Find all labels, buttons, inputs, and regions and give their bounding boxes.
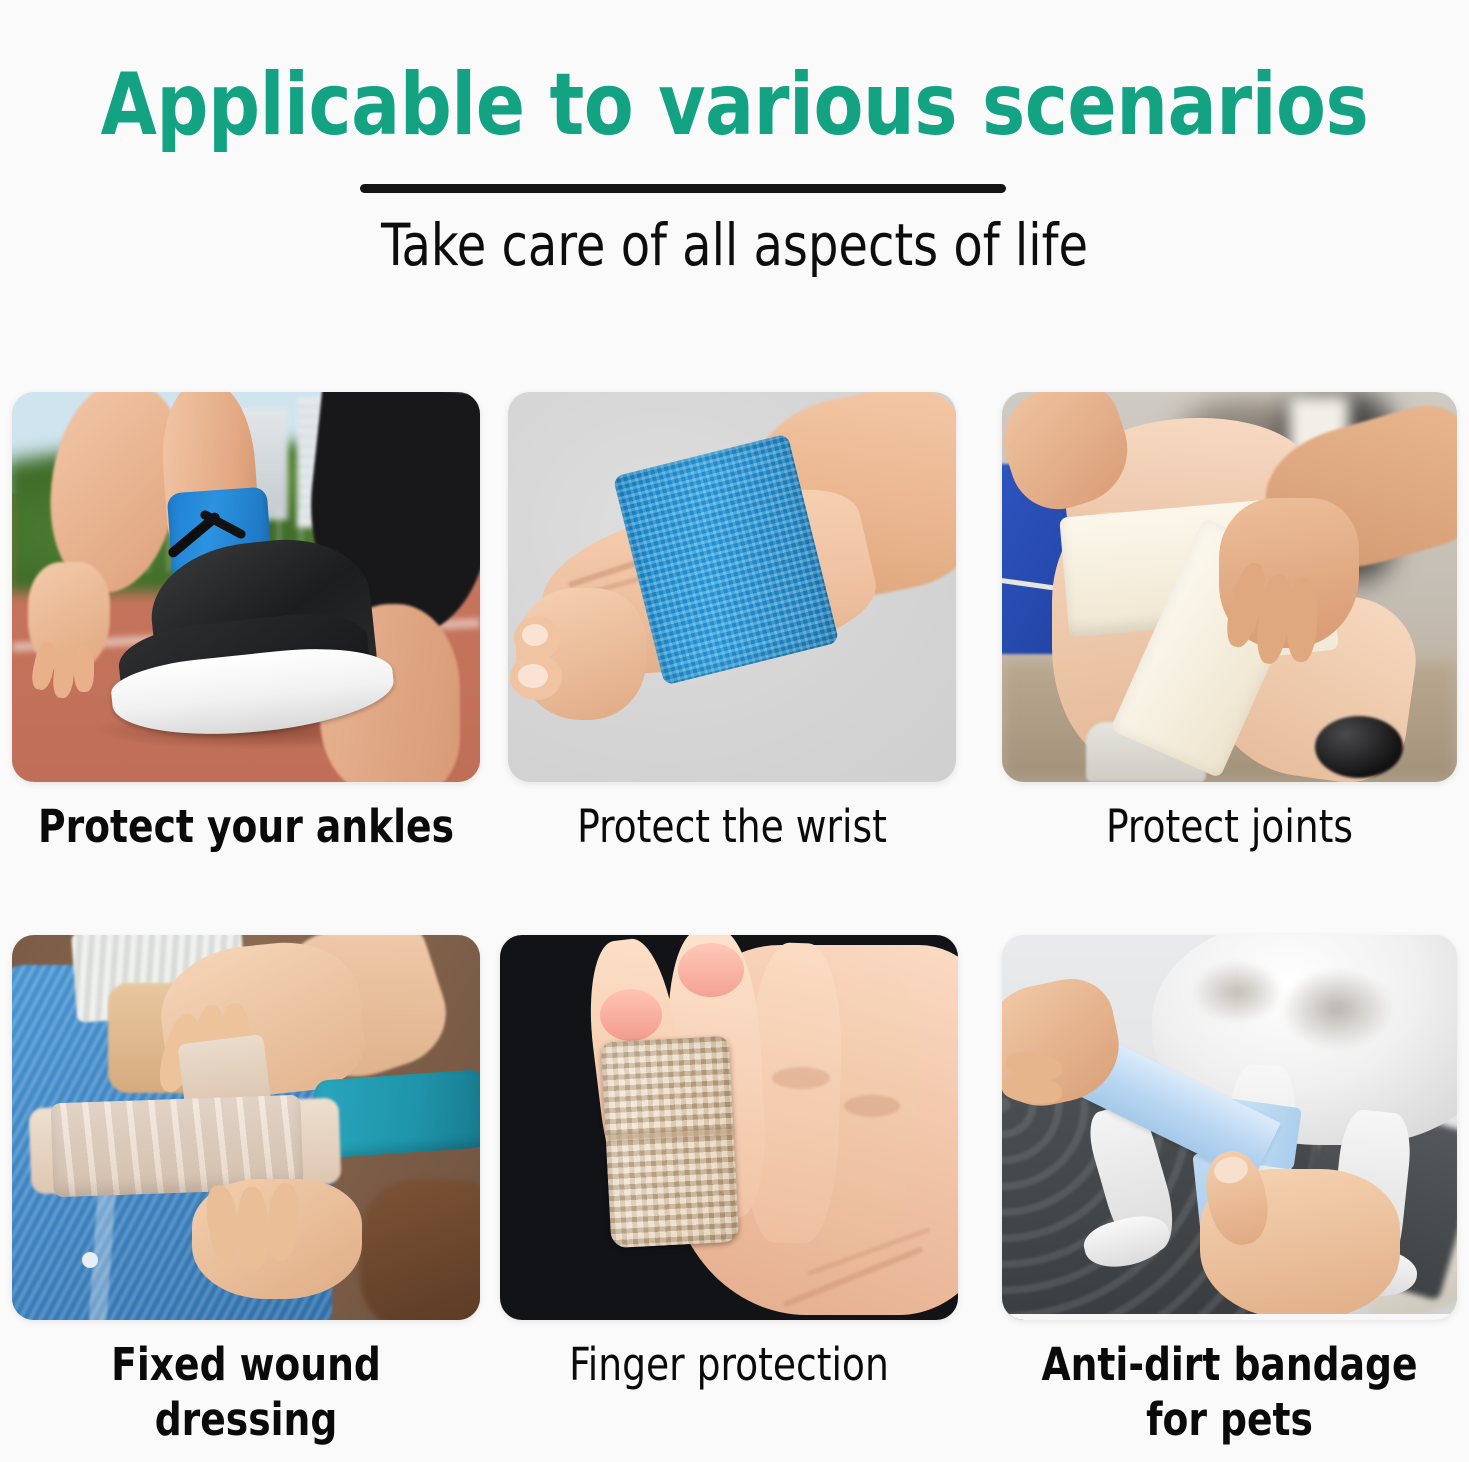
- infographic-page: Applicable to various scenarios Take car…: [0, 0, 1469, 1462]
- scenario-card-finger: Finger protection: [500, 935, 958, 1393]
- scenario-card-wrist: Protect the wrist: [508, 392, 956, 855]
- scenario-caption: Protect your ankles: [28, 800, 463, 855]
- forearm-wound-dressing-photo: [12, 935, 480, 1320]
- knee-joint-bandage-photo: [1002, 392, 1457, 782]
- page-subtitle: Take care of all aspects of life: [59, 216, 1410, 274]
- scenario-caption: Protect joints: [1018, 800, 1441, 855]
- scenario-card-pets: Anti-dirt bandagefor pets: [1002, 935, 1457, 1448]
- scenario-card-joints: Protect joints: [1002, 392, 1457, 855]
- page-title: Applicable to various scenarios: [44, 62, 1425, 148]
- scenario-caption: Protect the wrist: [524, 800, 941, 855]
- ankle-bandage-runner-photo: [12, 392, 480, 782]
- title-divider: [360, 184, 1006, 193]
- scenario-card-wound-dressing: Fixed wound dressing: [12, 935, 480, 1448]
- caption-line-1: Anti-dirt bandage: [1041, 1338, 1417, 1391]
- finger-bandage-photo: [500, 935, 958, 1320]
- scenario-caption: Anti-dirt bandagefor pets: [1018, 1338, 1441, 1448]
- caption-line-2: for pets: [1146, 1393, 1313, 1446]
- scenario-caption: Fixed wound dressing: [28, 1338, 463, 1448]
- beige-finger-bandage: [601, 1036, 740, 1248]
- wrist-bandage-photo: [508, 392, 956, 782]
- scenario-card-ankle: Protect your ankles: [12, 392, 480, 855]
- scenario-caption: Finger protection: [516, 1338, 942, 1393]
- pet-leg-bandage-photo: [1002, 935, 1457, 1320]
